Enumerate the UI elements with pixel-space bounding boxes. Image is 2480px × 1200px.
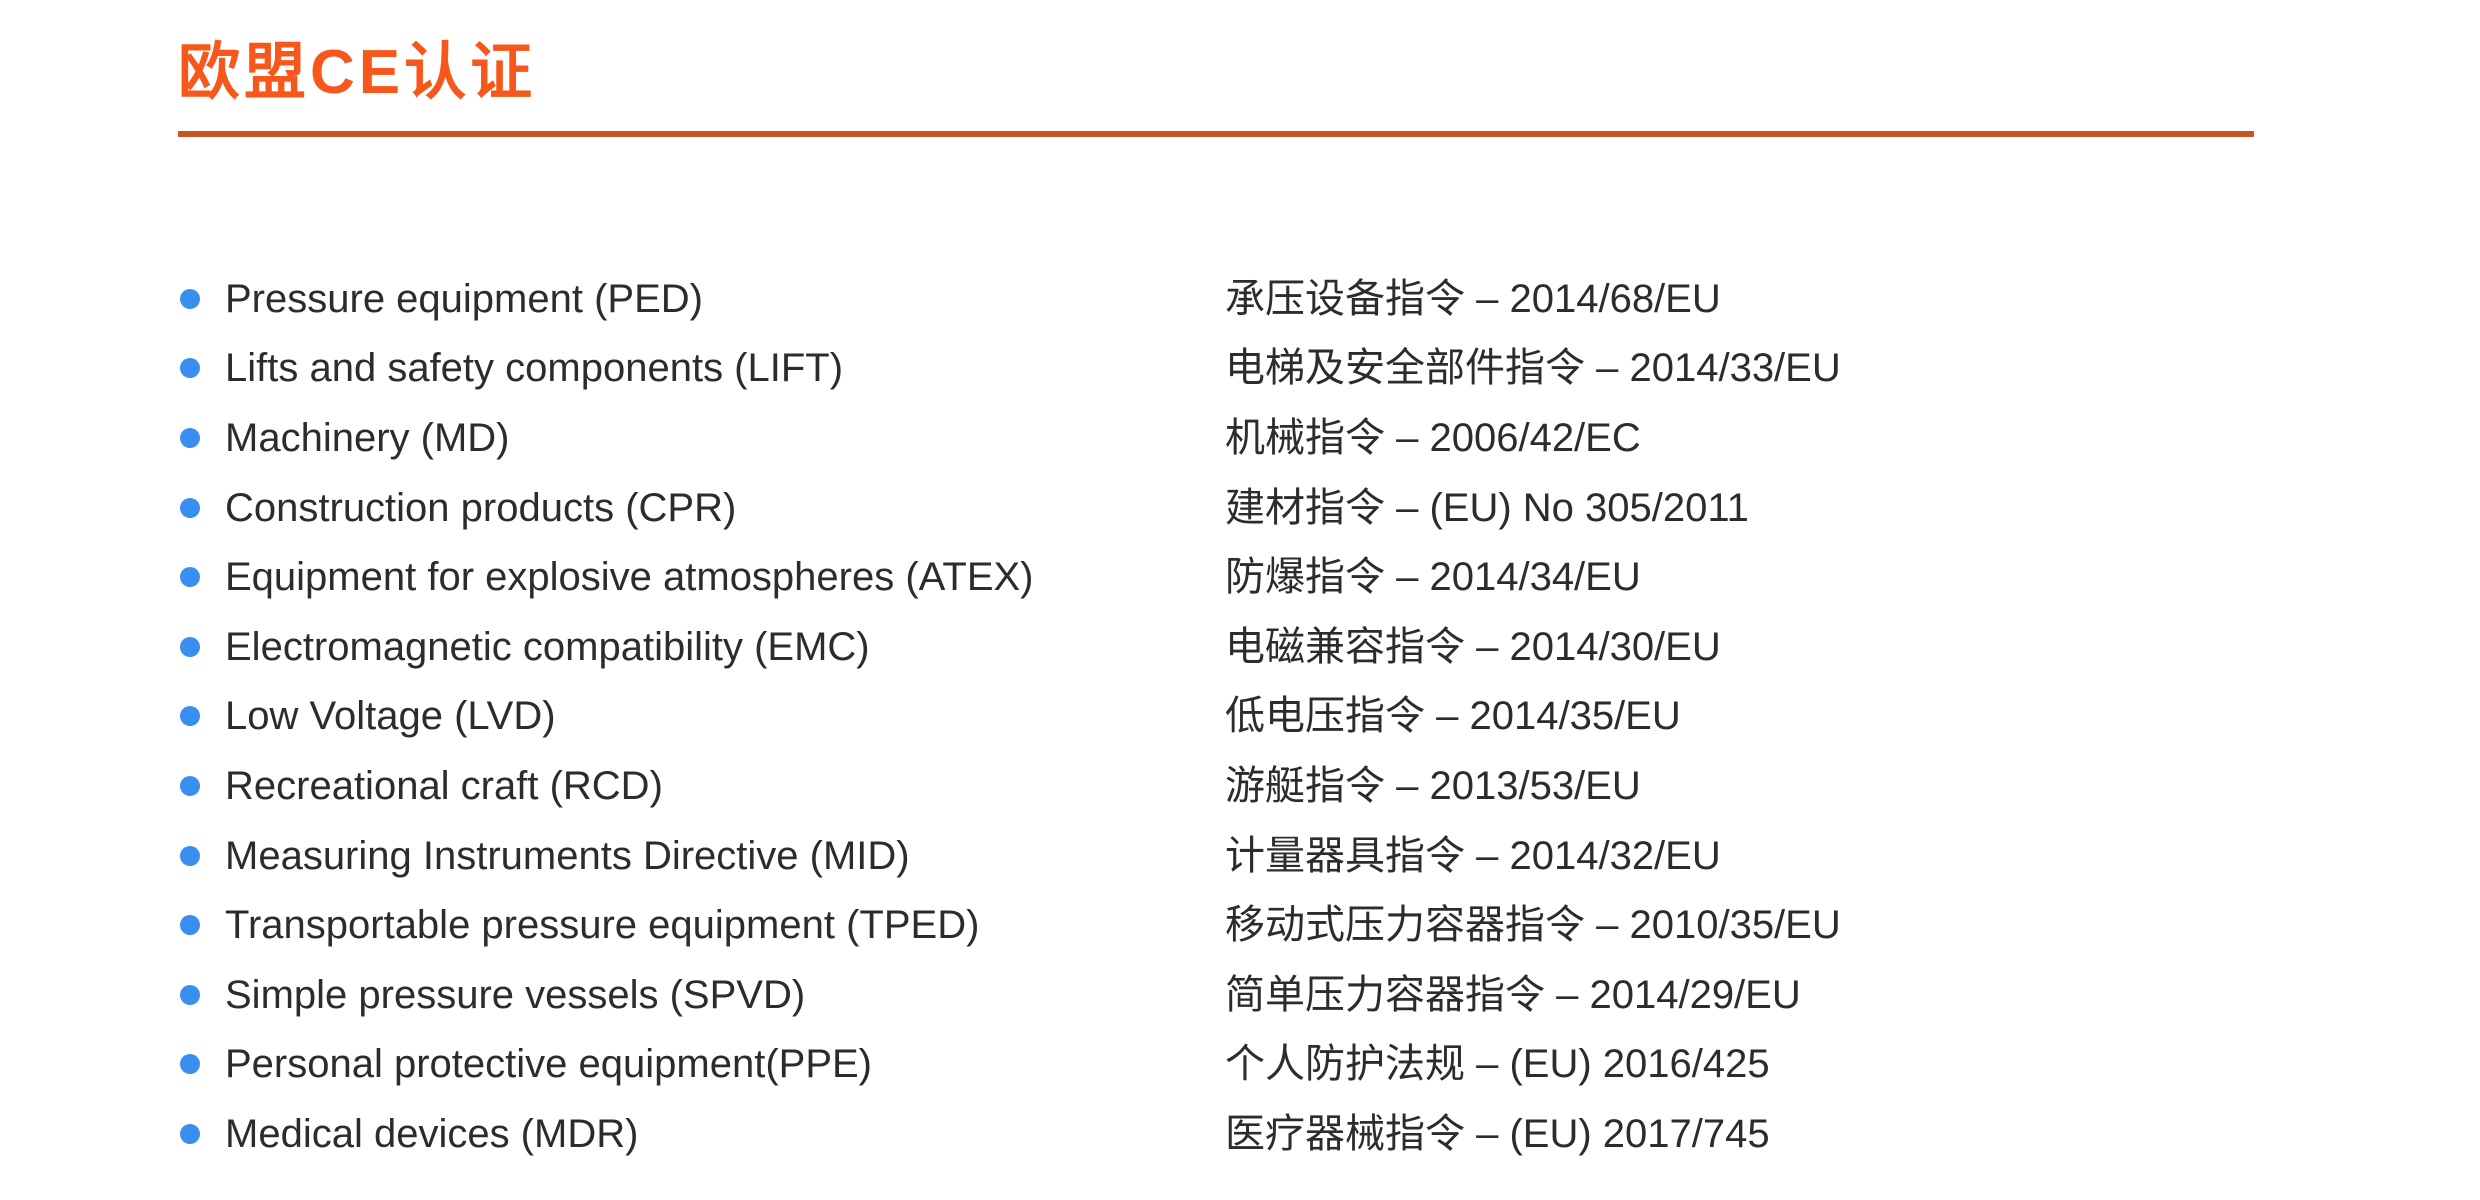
directive-name-en: Recreational craft (RCD) [225,764,1225,808]
list-item: Electromagnetic compatibility (EMC)电磁兼容指… [178,612,2328,682]
list-item: Medical devices (MDR)医疗器械指令 – (EU) 2017/… [178,1099,2328,1169]
directive-name-en: Simple pressure vessels (SPVD) [225,973,1225,1017]
ce-directive-list: Pressure equipment (PED)承压设备指令 – 2014/68… [178,264,2328,1169]
directive-name-en: Lifts and safety components (LIFT) [225,346,1225,390]
directive-name-en: Equipment for explosive atmospheres (ATE… [225,555,1225,599]
directive-name-en: Transportable pressure equipment (TPED) [225,903,1225,947]
blue-dot-bullet-icon [180,289,200,309]
directive-name-zh: 防爆指令 – 2014/34/EU [1225,555,1641,599]
list-item: Equipment for explosive atmospheres (ATE… [178,542,2328,612]
blue-dot-bullet-icon [180,776,200,796]
directive-name-zh: 建材指令 – (EU) No 305/2011 [1225,486,1749,530]
directive-name-zh: 个人防护法规 – (EU) 2016/425 [1225,1042,1770,1086]
page-title: 欧盟CE认证 [178,40,2254,107]
directive-name-zh: 机械指令 – 2006/42/EC [1225,416,1641,460]
title-divider [178,131,2254,137]
list-item: Simple pressure vessels (SPVD)简单压力容器指令 –… [178,960,2328,1030]
directive-name-zh: 移动式压力容器指令 – 2010/35/EU [1225,903,1841,947]
blue-dot-bullet-icon [180,358,200,378]
directive-name-zh: 计量器具指令 – 2014/32/EU [1225,834,1721,878]
list-item: Low Voltage (LVD)低电压指令 – 2014/35/EU [178,682,2328,752]
directive-name-en: Measuring Instruments Directive (MID) [225,834,1225,878]
blue-dot-bullet-icon [180,567,200,587]
page-header: 欧盟CE认证 [178,40,2254,137]
directive-name-en: Personal protective equipment(PPE) [225,1042,1225,1086]
directive-name-zh: 医疗器械指令 – (EU) 2017/745 [1225,1112,1770,1156]
directive-name-en: Pressure equipment (PED) [225,277,1225,321]
list-item: Construction products (CPR)建材指令 – (EU) N… [178,473,2328,543]
blue-dot-bullet-icon [180,915,200,935]
blue-dot-bullet-icon [180,985,200,1005]
list-item: Measuring Instruments Directive (MID)计量器… [178,821,2328,891]
blue-dot-bullet-icon [180,428,200,448]
list-item: Transportable pressure equipment (TPED)移… [178,890,2328,960]
list-item: Machinery (MD)机械指令 – 2006/42/EC [178,403,2328,473]
blue-dot-bullet-icon [180,637,200,657]
directive-name-en: Low Voltage (LVD) [225,694,1225,738]
directive-name-zh: 低电压指令 – 2014/35/EU [1225,694,1681,738]
directive-name-zh: 简单压力容器指令 – 2014/29/EU [1225,973,1801,1017]
directive-name-zh: 电磁兼容指令 – 2014/30/EU [1225,625,1721,669]
ce-certification-page: 欧盟CE认证 Pressure equipment (PED)承压设备指令 – … [0,0,2480,1200]
blue-dot-bullet-icon [180,706,200,726]
list-item: Lifts and safety components (LIFT)电梯及安全部… [178,334,2328,404]
blue-dot-bullet-icon [180,1054,200,1074]
directive-name-zh: 游艇指令 – 2013/53/EU [1225,764,1641,808]
directive-name-zh: 承压设备指令 – 2014/68/EU [1225,277,1721,321]
list-item: Pressure equipment (PED)承压设备指令 – 2014/68… [178,264,2328,334]
directive-name-en: Medical devices (MDR) [225,1112,1225,1156]
blue-dot-bullet-icon [180,846,200,866]
directive-name-en: Machinery (MD) [225,416,1225,460]
blue-dot-bullet-icon [180,1124,200,1144]
directive-name-en: Construction products (CPR) [225,486,1225,530]
blue-dot-bullet-icon [180,498,200,518]
directive-name-en: Electromagnetic compatibility (EMC) [225,625,1225,669]
directive-name-zh: 电梯及安全部件指令 – 2014/33/EU [1225,346,1841,390]
list-item: Recreational craft (RCD)游艇指令 – 2013/53/E… [178,751,2328,821]
list-item: Personal protective equipment(PPE)个人防护法规… [178,1030,2328,1100]
